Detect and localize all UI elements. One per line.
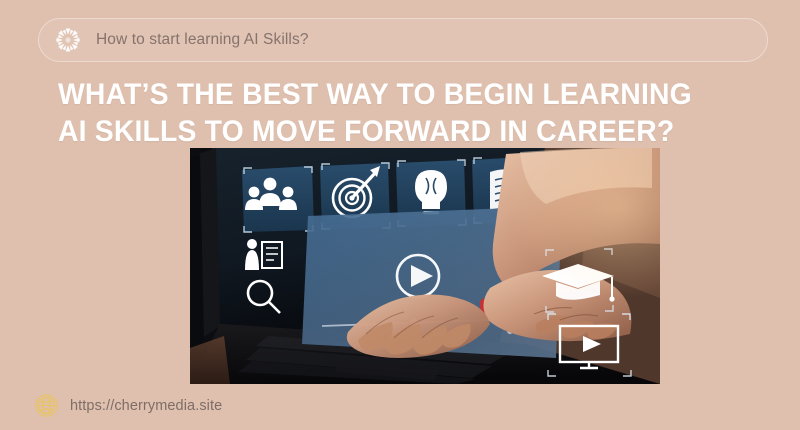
hero-illustration: SUBS (190, 148, 660, 384)
headline-line-1: What’s the best way to begin learning (58, 76, 730, 113)
globe-icon (34, 393, 59, 418)
search-input-text[interactable]: How to start learning AI Skills? (96, 31, 309, 49)
hero-image: SUBS (190, 148, 660, 384)
search-bar[interactable]: How to start learning AI Skills? (38, 18, 768, 62)
site-url[interactable]: https://cherrymedia.site (70, 398, 222, 414)
page-title: What’s the best way to begin learning AI… (58, 76, 730, 150)
sunburst-icon (53, 25, 83, 55)
headline-line-2: AI skills to move forward in career? (58, 113, 730, 150)
group-people-icon (242, 166, 314, 232)
footer: https://cherrymedia.site (34, 393, 222, 418)
